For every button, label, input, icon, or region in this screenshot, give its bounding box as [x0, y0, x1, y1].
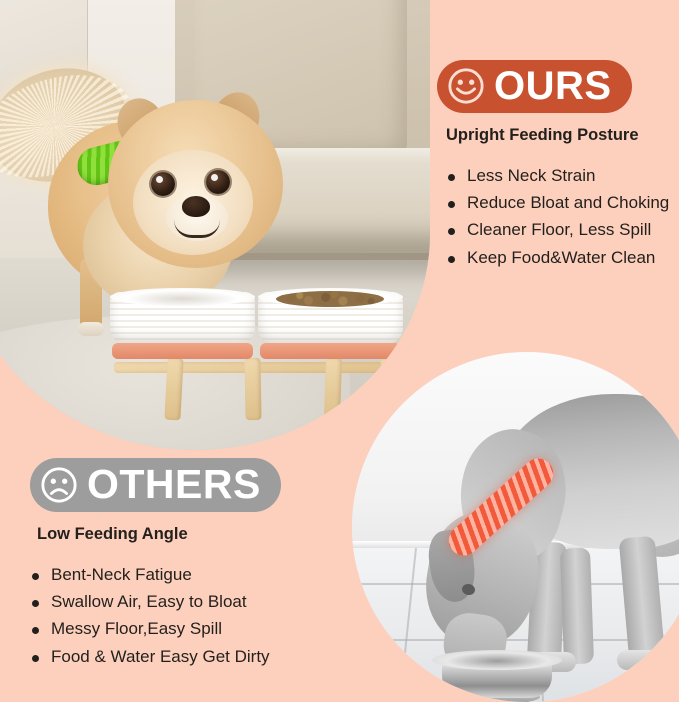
- ours-panel: OURS Upright Feeding Posture Less Neck S…: [437, 60, 677, 271]
- list-item: Bent-Neck Fatigue: [30, 561, 360, 588]
- water-bowl-rim: [110, 288, 255, 306]
- ours-subtitle: Upright Feeding Posture: [446, 126, 677, 145]
- photo-low-feeding: [352, 352, 679, 702]
- dog-eye-left: [151, 172, 175, 196]
- stainless-floor-bowl: [432, 650, 562, 702]
- list-item: Food & Water Easy Get Dirty: [30, 643, 360, 670]
- others-badge-label: OTHERS: [87, 464, 261, 505]
- food-bowl: [258, 288, 403, 350]
- grey-dog-front-leg-right: [560, 548, 594, 665]
- ours-feature-list: Less Neck Strain Reduce Bloat and Chokin…: [446, 162, 677, 271]
- others-feature-list: Bent-Neck Fatigue Swallow Air, Easy to B…: [30, 561, 360, 670]
- ours-badge-label: OURS: [494, 66, 612, 106]
- grey-dog-paw-hind: [617, 650, 661, 670]
- dog-food-kibble: [276, 291, 384, 307]
- others-subtitle: Low Feeding Angle: [37, 525, 360, 544]
- dog-eye-right: [206, 170, 230, 194]
- smiling-face-icon: [447, 67, 485, 105]
- water-bowl-silicone-ring: [112, 343, 253, 359]
- stand-leg-1: [164, 358, 183, 421]
- dog-nose: [182, 196, 210, 217]
- pomeranian-dog: [0, 30, 288, 320]
- stand-leg-3: [324, 358, 342, 421]
- others-panel: OTHERS Low Feeding Angle Bent-Neck Fatig…: [30, 458, 360, 670]
- dog-paw-left: [78, 322, 104, 336]
- list-item: Keep Food&Water Clean: [446, 244, 677, 271]
- list-item: Messy Floor,Easy Spill: [30, 615, 360, 642]
- list-item: Less Neck Strain: [446, 162, 677, 189]
- water-bowl: [110, 288, 255, 350]
- ours-badge: OURS: [437, 60, 632, 113]
- list-item: Cleaner Floor, Less Spill: [446, 216, 677, 243]
- frowning-face-icon: [40, 466, 78, 504]
- stand-leg-2: [244, 358, 261, 420]
- list-item: Reduce Bloat and Choking: [446, 189, 677, 216]
- list-item: Swallow Air, Easy to Bloat: [30, 588, 360, 615]
- others-badge: OTHERS: [30, 458, 281, 512]
- floor-bowl-rim: [432, 650, 562, 670]
